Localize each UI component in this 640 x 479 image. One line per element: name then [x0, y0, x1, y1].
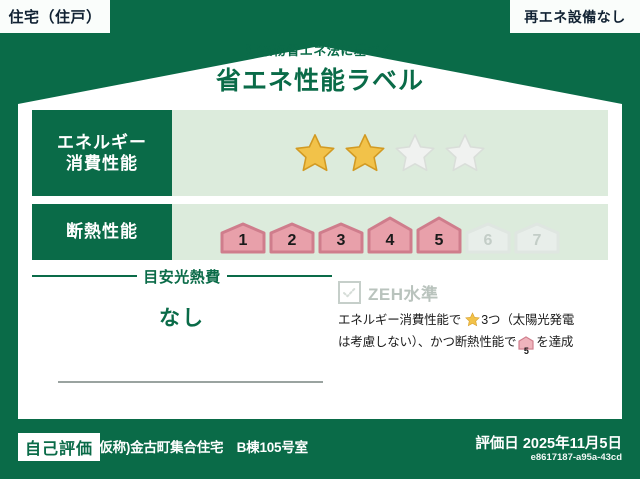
energy-performance-label: 住宅（住戸） 再エネ設備なし 建築物省エネ法に基づく 省エネ性能ラベル エネルギ…	[0, 0, 640, 479]
insulation-level-2: 2	[269, 222, 315, 254]
star-rating	[172, 110, 608, 196]
insulation-level-number: 5	[416, 233, 462, 249]
insulation-level-number: 7	[514, 233, 560, 249]
utility-cost-heading: 目安光熱費	[32, 266, 332, 286]
zeh-desc-part3: は考慮しない）、かつ断熱性能で	[338, 335, 516, 349]
inline-house-badge: 5	[518, 336, 534, 356]
evaluation-date: 評価日 2025年11月5日	[475, 432, 622, 453]
insulation-level-scale: 1234567	[172, 204, 608, 260]
insulation-level-number: 1	[220, 233, 266, 249]
cost-divider-line	[58, 381, 323, 383]
label-title: 建築物省エネ法に基づく 省エネ性能ラベル	[0, 40, 640, 97]
zeh-heading: ZEH水準	[338, 280, 610, 305]
row-energy-label: エネルギー 消費性能	[32, 110, 172, 196]
row-energy-label-line1: エネルギー	[57, 132, 147, 153]
cost-rule-right	[227, 275, 332, 277]
tag-renewable-equipment-label: 再エネ設備なし	[524, 7, 626, 27]
tag-building-type: 住宅（住戸）	[0, 0, 110, 33]
star-filled-icon	[343, 132, 387, 174]
insulation-level-6: 6	[465, 222, 511, 254]
label-footer: 自己評価 (仮称)金古町集合住宅 B棟105号室 評価日 2025年11月5日 …	[0, 419, 640, 479]
title-subtitle: 建築物省エネ法に基づく	[0, 40, 640, 59]
property-name: (仮称)金古町集合住宅 B棟105号室	[95, 436, 308, 456]
zeh-desc-part1: エネルギー消費性能で	[338, 313, 461, 327]
inline-star-icon	[462, 316, 480, 330]
insulation-level-number: 4	[367, 233, 413, 249]
star-empty-icon	[393, 132, 437, 174]
zeh-desc-part4: を達成	[536, 335, 573, 349]
insulation-level-3: 3	[318, 222, 364, 254]
self-assessment-badge: 自己評価	[18, 433, 100, 461]
insulation-level-5: 5	[416, 216, 462, 254]
zeh-title: ZEH水準	[368, 280, 439, 305]
insulation-level-number: 3	[318, 233, 364, 249]
evaluation-id: e8617187-a95a-43cd	[531, 452, 622, 463]
insulation-level-number: 6	[465, 233, 511, 249]
star-filled-icon	[293, 132, 337, 174]
insulation-level-number: 2	[269, 233, 315, 249]
zeh-checkbox-icon	[338, 281, 361, 304]
row-insulation-label-text: 断熱性能	[66, 221, 138, 242]
zeh-description: エネルギー消費性能で 3つ（太陽光発電 は考慮しない）、かつ断熱性能で 5 を達…	[338, 311, 610, 357]
row-insulation-performance: 断熱性能 1234567	[32, 204, 608, 260]
insulation-level-7: 7	[514, 222, 560, 254]
insulation-level-1: 1	[220, 222, 266, 254]
star-empty-icon	[443, 132, 487, 174]
zeh-standard-block: ZEH水準 エネルギー消費性能で 3つ（太陽光発電 は考慮しない）、かつ断熱性能…	[338, 280, 610, 357]
utility-cost-value: なし	[32, 302, 332, 332]
row-insulation-label: 断熱性能	[32, 204, 172, 260]
row-energy-performance: エネルギー 消費性能	[32, 110, 608, 196]
zeh-desc-part2: 3つ（太陽光発電	[481, 313, 574, 327]
label-card: エネルギー 消費性能 断熱性能 1234567 目安光熱費 なし	[18, 104, 622, 419]
title-main: 省エネ性能ラベル	[0, 61, 640, 97]
tag-renewable-equipment: 再エネ設備なし	[510, 0, 640, 33]
utility-cost-heading-text: 目安光熱費	[143, 266, 221, 287]
cost-rule-left	[32, 275, 137, 277]
inline-house-number: 5	[518, 347, 534, 356]
insulation-level-4: 4	[367, 216, 413, 254]
row-energy-label-line2: 消費性能	[66, 153, 138, 174]
tag-building-type-label: 住宅（住戸）	[8, 6, 101, 27]
